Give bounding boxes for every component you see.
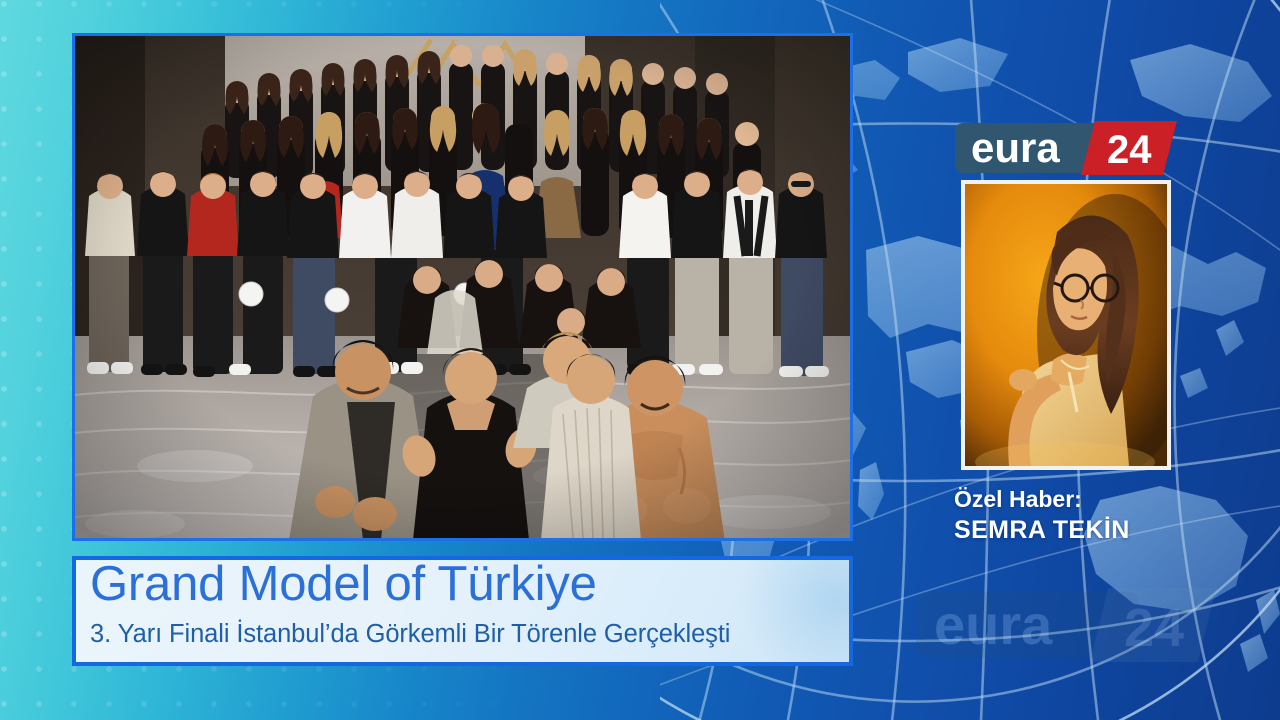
page-title: Grand Model of Türkiye bbox=[90, 556, 597, 612]
eura24-logo: eura 24 bbox=[955, 121, 1177, 175]
credit-name: SEMRA TEKİN bbox=[954, 514, 1204, 547]
reporter-credit: Özel Haber: SEMRA TEKİN bbox=[954, 484, 1204, 547]
credit-label: Özel Haber: bbox=[954, 484, 1204, 514]
logo-24-text: 24 bbox=[1107, 128, 1152, 172]
main-news-photo-image bbox=[75, 36, 850, 538]
logo-eura-text: eura bbox=[971, 124, 1060, 171]
headline-subtitle: 3. Yarı Finali İstanbul’da Görkemli Bir … bbox=[90, 620, 730, 649]
headline-box: Grand Model of Türkiye 3. Yarı Finali İs… bbox=[72, 556, 853, 666]
watermark-24-text: 24 bbox=[1124, 598, 1184, 658]
watermark-eura-text: eura bbox=[934, 593, 1053, 656]
reporter-portrait bbox=[961, 180, 1171, 470]
eura24-watermark: eura 24 bbox=[916, 588, 1216, 662]
main-news-photo bbox=[72, 33, 853, 541]
broadcast-lower-third-graphic: Grand Model of Türkiye 3. Yarı Finali İs… bbox=[0, 0, 1280, 720]
